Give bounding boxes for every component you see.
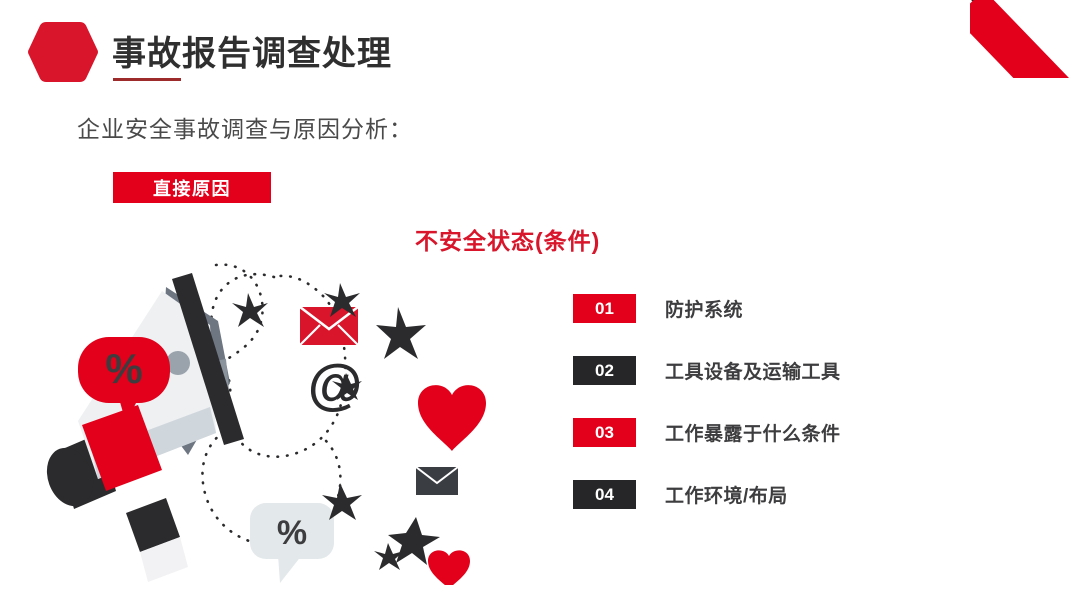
speech-bubble-gray-text: % bbox=[277, 514, 307, 552]
item-number-badge: 02 bbox=[573, 356, 636, 385]
title-underline bbox=[113, 78, 181, 81]
item-number-badge: 01 bbox=[573, 294, 636, 323]
speech-bubble-red-text: % bbox=[105, 345, 142, 392]
item-label: 工具设备及运输工具 bbox=[665, 357, 841, 384]
section-heading: 不安全状态(条件) bbox=[415, 222, 600, 256]
slide-canvas: 事故报告调查处理 企业安全事故调查与原因分析： 直接原因 不安全状态(条件) bbox=[0, 0, 1080, 608]
corner-ribbon-red-stripe bbox=[970, 0, 1080, 78]
item-number-badge: 04 bbox=[573, 480, 636, 509]
list-item[interactable]: 04 工作环境/布局 bbox=[573, 480, 993, 509]
heart-small-red-icon bbox=[428, 550, 470, 585]
corner-ribbon bbox=[970, 0, 1080, 78]
list-item[interactable]: 02 工具设备及运输工具 bbox=[573, 356, 993, 385]
heart-red-icon bbox=[418, 385, 486, 451]
list-item[interactable]: 01 防护系统 bbox=[573, 294, 993, 323]
megaphone-social-icons-illustration: % % @ bbox=[40, 255, 500, 585]
item-number-badge: 03 bbox=[573, 418, 636, 447]
corner-ribbon-dark-stripe bbox=[970, 0, 1080, 78]
star-icon bbox=[376, 307, 426, 359]
item-label: 防护系统 bbox=[665, 295, 743, 322]
list-item[interactable]: 03 工作暴露于什么条件 bbox=[573, 418, 993, 447]
item-label: 工作环境/布局 bbox=[665, 481, 788, 508]
speech-bubble-gray: % bbox=[250, 503, 334, 583]
red-hexagon-icon bbox=[28, 20, 98, 84]
page-subtitle: 企业安全事故调查与原因分析： bbox=[77, 110, 413, 144]
envelope-dark-icon bbox=[416, 467, 458, 495]
direct-cause-tag: 直接原因 bbox=[113, 172, 271, 203]
page-title: 事故报告调查处理 bbox=[112, 26, 392, 75]
envelope-red-icon bbox=[300, 307, 358, 345]
star-icon bbox=[232, 293, 268, 327]
item-label: 工作暴露于什么条件 bbox=[665, 419, 841, 446]
megaphone-graphic bbox=[40, 273, 244, 582]
unsafe-condition-list: 01 防护系统 02 工具设备及运输工具 03 工作暴露于什么条件 04 工作环… bbox=[573, 294, 993, 542]
